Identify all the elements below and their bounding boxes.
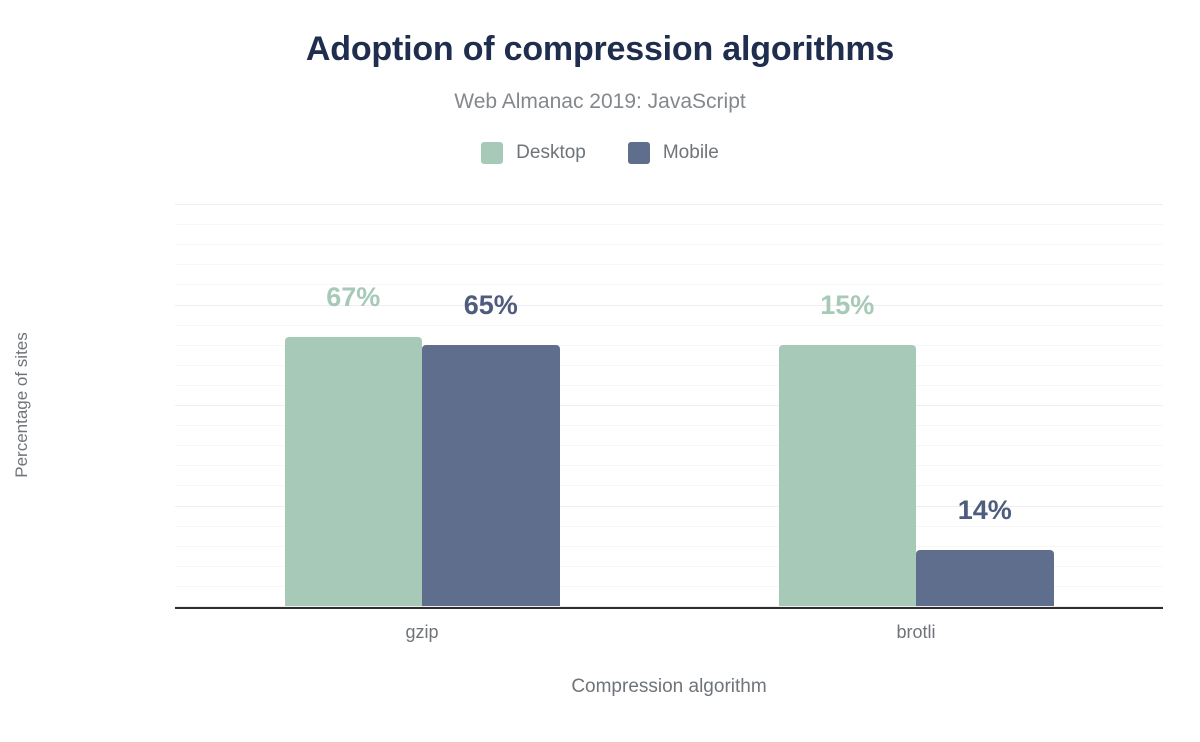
chart-legend: DesktopMobile	[0, 142, 1200, 164]
bar-brotli-desktop[interactable]	[779, 345, 917, 606]
x-axis-title: Compression algorithm	[175, 676, 1163, 698]
legend-swatch-icon	[481, 142, 503, 164]
chart-subtitle: Web Almanac 2019: JavaScript	[0, 90, 1200, 114]
y-axis-title: Percentage of sites	[12, 332, 32, 478]
bar-brotli-mobile[interactable]	[916, 550, 1054, 606]
gridline-minor	[175, 224, 1163, 225]
legend-item-label: Mobile	[663, 142, 719, 164]
bar-gzip-desktop[interactable]	[285, 337, 423, 606]
legend-item-desktop[interactable]: Desktop	[481, 142, 586, 164]
gridline-minor	[175, 325, 1163, 326]
bar-value-label: 65%	[422, 290, 560, 321]
legend-item-mobile[interactable]: Mobile	[628, 142, 719, 164]
gridline-minor	[175, 264, 1163, 265]
legend-swatch-icon	[628, 142, 650, 164]
bar-value-label: 67%	[285, 282, 423, 313]
chart-title: Adoption of compression algorithms	[0, 30, 1200, 69]
bar-gzip-mobile[interactable]	[422, 345, 560, 606]
gridline-minor	[175, 244, 1163, 245]
bar-value-label: 15%	[779, 290, 917, 321]
x-axis-tick-label: brotli	[896, 622, 935, 643]
plot-area: 0%25%50%75%100%67%65%gzip15%14%brotli	[175, 204, 1163, 606]
gridline-major	[175, 204, 1163, 205]
bar-value-label: 14%	[916, 495, 1054, 526]
gridline-major	[175, 606, 1163, 607]
chart-figure: Adoption of compression algorithms Web A…	[0, 0, 1200, 742]
legend-item-label: Desktop	[516, 142, 586, 164]
x-axis-tick-label: gzip	[405, 622, 438, 643]
